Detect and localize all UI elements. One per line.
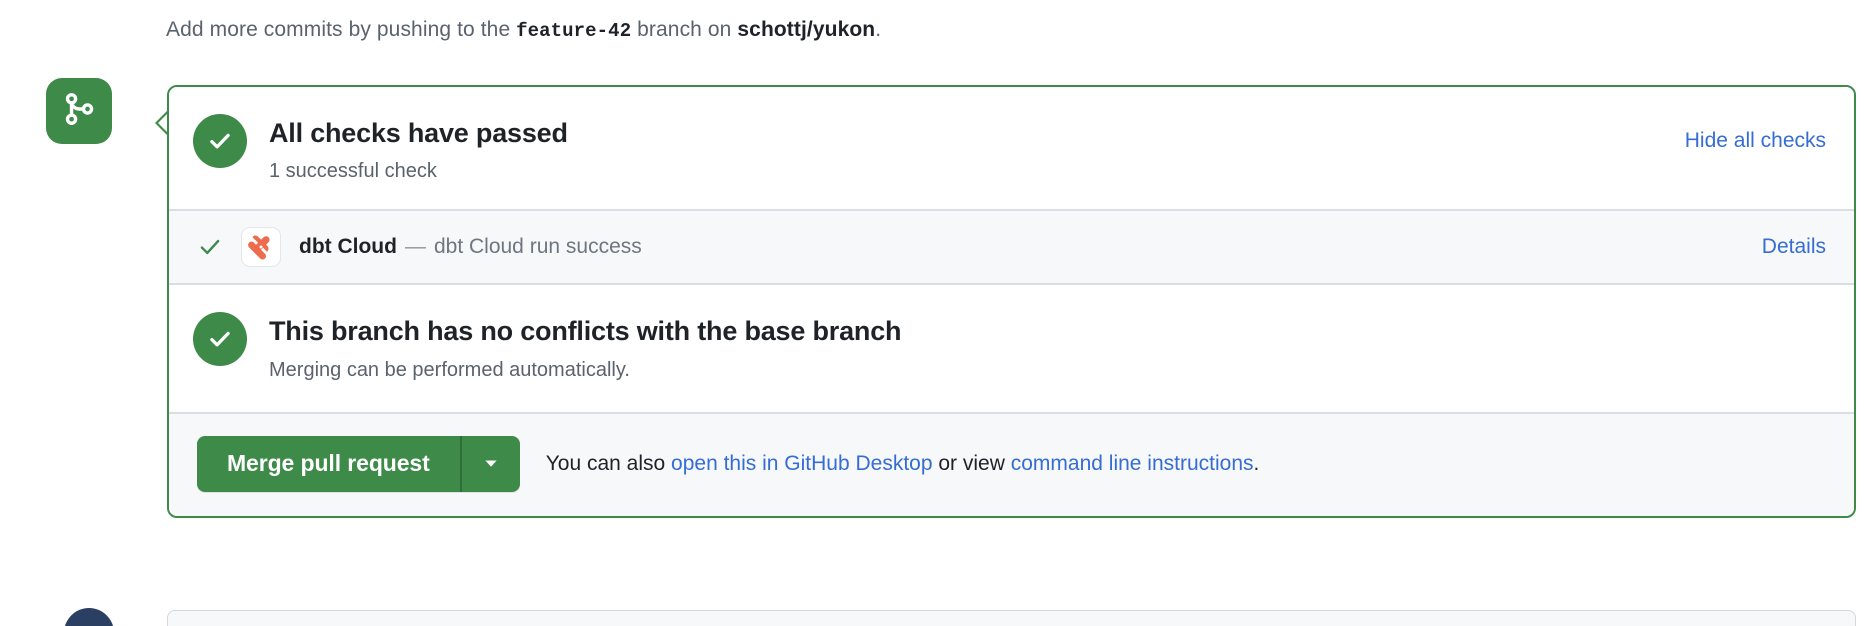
check-name: dbt Cloud	[299, 235, 397, 259]
merge-status-box: All checks have passed 1 successful chec…	[167, 85, 1856, 518]
footer-note-prefix: You can also	[546, 452, 666, 475]
check-icon	[195, 234, 225, 260]
push-commits-hint: Add more commits by pushing to the featu…	[166, 14, 881, 47]
dbt-cloud-logo-icon	[241, 227, 281, 267]
checks-summary-subtitle: 1 successful check	[269, 157, 568, 185]
merge-pull-request-button[interactable]: Merge pull request	[197, 436, 460, 492]
repository-name: schottj/yukon	[737, 18, 875, 41]
open-in-github-desktop-link[interactable]: open this in GitHub Desktop	[671, 452, 932, 475]
merge-footer: Merge pull request You can also open thi…	[169, 414, 1854, 516]
git-merge-icon	[62, 92, 96, 131]
check-separator: —	[405, 235, 426, 259]
checks-summary-text: All checks have passed 1 successful chec…	[269, 114, 568, 185]
check-circle-icon	[193, 312, 247, 366]
merge-button-group: Merge pull request	[197, 436, 520, 492]
timeline-git-merge-badge	[46, 78, 112, 144]
avatar[interactable]	[64, 608, 114, 626]
checks-summary-title: All checks have passed	[269, 116, 568, 150]
conflicts-section: This branch has no conflicts with the ba…	[169, 285, 1854, 414]
conflicts-subtitle: Merging can be performed automatically.	[269, 356, 901, 384]
merge-footer-note: You can also open this in GitHub Desktop…	[546, 452, 1260, 476]
command-line-instructions-link[interactable]: command line instructions	[1011, 452, 1254, 475]
footer-note-suffix: .	[1254, 452, 1260, 475]
push-hint-prefix: Add more commits by pushing to the	[166, 18, 510, 41]
pull-request-merge-panel: Add more commits by pushing to the featu…	[0, 0, 1868, 626]
hide-all-checks-link[interactable]: Hide all checks	[1685, 129, 1826, 153]
check-description: dbt Cloud run success	[434, 235, 642, 259]
push-hint-suffix: .	[875, 18, 881, 41]
push-hint-middle: branch on	[637, 18, 731, 41]
merge-options-dropdown-button[interactable]	[460, 436, 520, 492]
check-circle-icon	[193, 114, 247, 168]
check-details-link[interactable]: Details	[1762, 235, 1826, 259]
next-comment-box	[167, 610, 1856, 626]
check-row: dbt Cloud — dbt Cloud run success Detail…	[169, 209, 1854, 285]
conflicts-title: This branch has no conflicts with the ba…	[269, 314, 901, 348]
chevron-down-icon	[481, 453, 501, 476]
branch-name: feature-42	[516, 20, 631, 42]
checks-summary-section: All checks have passed 1 successful chec…	[169, 87, 1854, 209]
footer-note-middle: or view	[938, 452, 1005, 475]
conflicts-text: This branch has no conflicts with the ba…	[269, 312, 901, 384]
